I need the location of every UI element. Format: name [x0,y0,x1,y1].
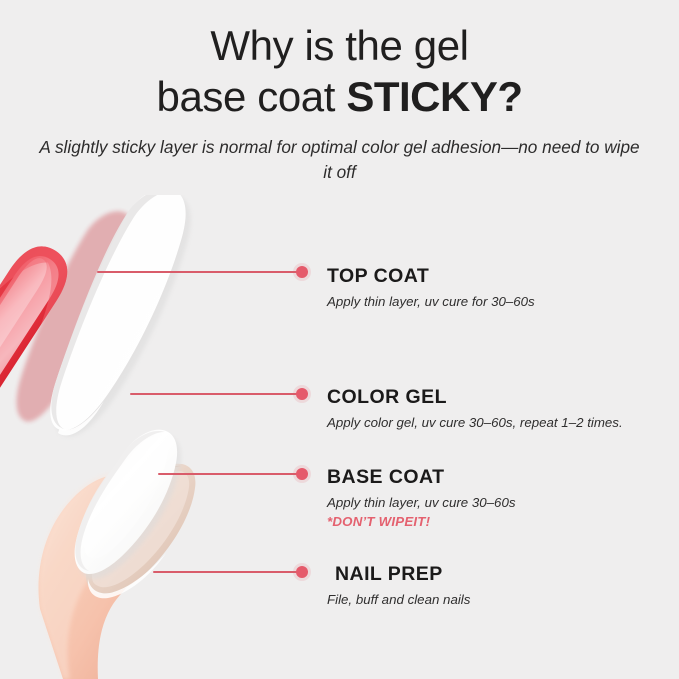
callout-warning-base-coat: *DON’T WIPEIT! [327,513,516,531]
callout-desc-nail-prep: File, buff and clean nails [327,590,470,609]
exploded-nail-layers-diagram [0,195,320,679]
page-subtitle: A slightly sticky layer is normal for op… [0,135,679,184]
label-block-color-gel: COLOR GEL Apply color gel, uv cure 30–60… [327,387,623,433]
callout-title-top-coat: TOP COAT [327,266,535,287]
title-line-2: base coat STICKY? [0,71,679,122]
callout-title-base-coat: BASE COAT [327,467,516,488]
title-line-1: Why is the gel [0,20,679,71]
label-block-base-coat: BASE COAT Apply thin layer, uv cure 30–6… [327,467,516,531]
leader-line-nail-prep [153,571,298,573]
title-emphasis-sticky: STICKY? [346,73,522,120]
label-block-nail-prep: NAIL PREP File, buff and clean nails [327,564,470,610]
leader-dot-base-coat [296,468,308,480]
label-block-top-coat: TOP COAT Apply thin layer, uv cure for 3… [327,266,535,312]
page-title: Why is the gel base coat STICKY? [0,20,679,122]
callout-title-nail-prep: NAIL PREP [327,564,470,585]
leader-dot-color-gel [296,388,308,400]
callout-title-color-gel: COLOR GEL [327,387,623,408]
title-line-2-plain: base coat [157,73,347,120]
leader-dot-top-coat [296,266,308,278]
leader-line-color-gel [130,393,298,395]
callout-desc-color-gel: Apply color gel, uv cure 30–60s, repeat … [327,413,623,432]
callout-desc-base-coat: Apply thin layer, uv cure 30–60s [327,493,516,512]
base-coat-layer [75,430,181,579]
callout-desc-top-coat: Apply thin layer, uv cure for 30–60s [327,292,535,311]
leader-line-top-coat [97,271,298,273]
leader-line-base-coat [158,473,298,475]
header: Why is the gel base coat STICKY? A sligh… [0,0,679,184]
leader-dot-nail-prep [296,566,308,578]
